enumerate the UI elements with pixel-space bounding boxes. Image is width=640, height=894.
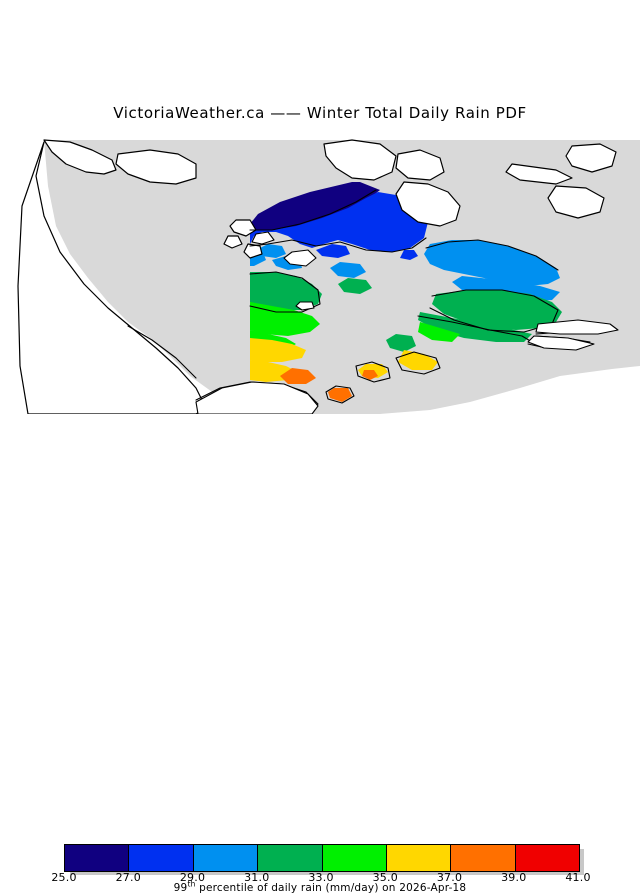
colorbar-swatch-orange xyxy=(451,845,515,871)
colorbar-swatch-blue xyxy=(129,845,193,871)
colorbar-swatch-red xyxy=(516,845,579,871)
caption-rest: percentile of daily rain (mm/day) on 202… xyxy=(196,882,467,894)
colorbar-swatch-green xyxy=(258,845,322,871)
colorbar-caption: 99th percentile of daily rain (mm/day) o… xyxy=(0,882,640,894)
colorbar-swatch-navy xyxy=(65,845,129,871)
colorbar-swatch-bright-green xyxy=(323,845,387,871)
colorbar-panel: 25.027.029.031.033.035.037.039.041.0 99t… xyxy=(0,418,640,480)
caption-percentile-number: 99 xyxy=(174,882,188,894)
weather-map-figure: VictoriaWeather.ca —— Winter Total Daily… xyxy=(0,0,640,480)
colorbar-swatch-yellow xyxy=(387,845,451,871)
map-panel xyxy=(0,126,640,414)
caption-ordinal-suffix: th xyxy=(187,880,195,889)
colorbar xyxy=(64,844,580,872)
colorbar-swatch-light-blue xyxy=(194,845,258,871)
map-canvas xyxy=(0,126,640,414)
figure-title: VictoriaWeather.ca —— Winter Total Daily… xyxy=(0,104,640,122)
